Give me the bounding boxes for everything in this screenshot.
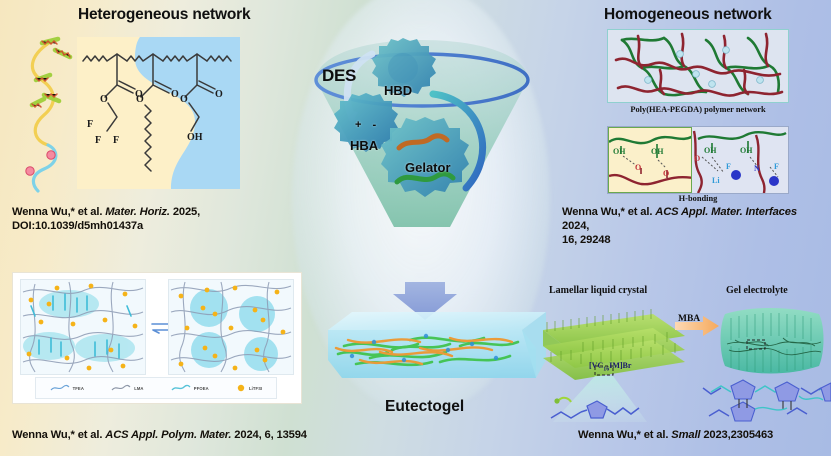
svg-text:OH: OH [613,147,626,156]
eutectogel-block [300,282,550,397]
des-funnel-diagram [300,22,545,252]
svg-text:O: O [635,163,641,172]
network-state-spherical [168,279,294,375]
svg-text:O: O [215,89,223,100]
gear-label-hba: HBA [350,138,378,153]
citation-authors: Wenna Wu,* et al. [12,429,102,441]
poly-network-caption: Poly(HEA-PEGDA) polymer network [600,105,796,114]
svg-text:OH: OH [740,146,753,155]
citation-journal: Mater. Horiz. [105,206,170,218]
legend-item: PFOEA [171,384,209,392]
citation-journal: ACS Appl. Mater. Interfaces [655,206,797,218]
citation-authors: Wenna Wu,* et al. [578,429,668,441]
poly-hea-pegda-network-image [607,29,789,103]
legend-label: PFOEA [194,386,209,391]
lamellar-to-gel-diagram [535,296,831,428]
citation-year: 2024 [562,220,586,232]
citation-locator: DOI:10.1039/d5mh01437a [12,220,143,232]
citation-small: Wenna Wu,* et al. Small 2023,2305463 [578,428,773,442]
lamellar-liquid-crystal-title: Lamellar liquid crystal [549,285,647,296]
wave-icon [111,384,131,392]
h-bonding-card: OH OH O O OH [607,126,789,194]
homogeneous-network-title: Homogeneous network [604,6,772,24]
wave-icon [171,384,191,392]
citation-journal: ACS Appl. Polym. Mater. [105,429,231,441]
svg-text:N: N [754,164,760,173]
h-bonding-salt-panel: OH OH O F F N Li [692,127,788,193]
legend-item: TFEA [50,384,84,392]
molecule-suffix: IM]Br [609,361,631,370]
network-state-elongated [20,279,146,375]
network-legend: TFEA LMA PFOEA LiTFSI [35,377,277,399]
h-bonding-caption: H-bonding [600,194,796,203]
gear-label-hbd: HBD [384,83,412,98]
heterogeneous-network-title: Heterogeneous network [78,6,250,24]
legend-item: LiTFSI [236,383,262,393]
citation-locator: 6, 13594 [265,429,307,441]
citation-year: 2023 [703,429,727,441]
monomer-structure-card: OO OO OO FFF OH [77,37,240,189]
network-transition-card: TFEA LMA PFOEA LiTFSI [12,272,302,404]
vc16im-br-label: [VC16IM]Br [589,361,631,373]
hba-charge-label: + - [355,119,380,131]
svg-text:F: F [87,119,93,130]
gel-electrolyte-title: Gel electrolyte [726,285,788,296]
wave-icon [50,384,70,392]
citation-locator: 16, 29248 [562,234,610,246]
svg-text:F: F [774,162,779,171]
eutectogel-label: Eutectogel [385,398,464,416]
graphical-abstract-figure: Heterogeneous network [0,0,831,456]
molecule-prefix: [VC [589,361,603,370]
svg-text:OH: OH [187,132,203,143]
svg-text:OH: OH [704,146,717,155]
des-label: DES [322,66,356,86]
polymer-chain-illustration [14,33,80,193]
svg-text:O: O [136,94,144,105]
monomer-skeletal-structures: OO OO OO FFF OH [77,37,240,189]
svg-text:O: O [663,169,669,178]
citation-acs-appl-polym-mater: Wenna Wu,* et al. ACS Appl. Polym. Mater… [12,428,307,442]
svg-text:Li: Li [712,176,720,185]
citation-mater-horiz: Wenna Wu,* et al. Mater. Horiz. 2025, DO… [12,205,262,233]
svg-text:F: F [726,162,731,171]
svg-text:F: F [95,135,101,146]
citation-authors: Wenna Wu,* et al. [12,206,102,218]
dot-icon [236,383,246,393]
citation-authors: Wenna Wu,* et al. [562,206,652,218]
citation-journal: Small [671,429,700,441]
svg-text:O: O [694,154,700,163]
svg-text:OH: OH [651,147,664,156]
legend-label: LiTFSI [249,386,262,391]
citation-locator: 2305463 [731,429,774,441]
citation-year: 2024 [234,429,258,441]
legend-label: LMA [134,386,143,391]
citation-acs-appl-mater-interfaces: Wenna Wu,* et al. ACS Appl. Mater. Inter… [562,205,827,247]
citation-year: 2025 [173,206,197,218]
svg-text:O: O [180,94,188,105]
svg-text:O: O [171,89,179,100]
svg-text:F: F [113,135,119,146]
h-bonding-neat-panel: OH OH O O [608,127,692,193]
legend-item: LMA [111,384,143,392]
legend-label: TFEA [73,386,84,391]
gear-label-gelator: Gelator [405,160,451,175]
svg-text:O: O [100,94,108,105]
